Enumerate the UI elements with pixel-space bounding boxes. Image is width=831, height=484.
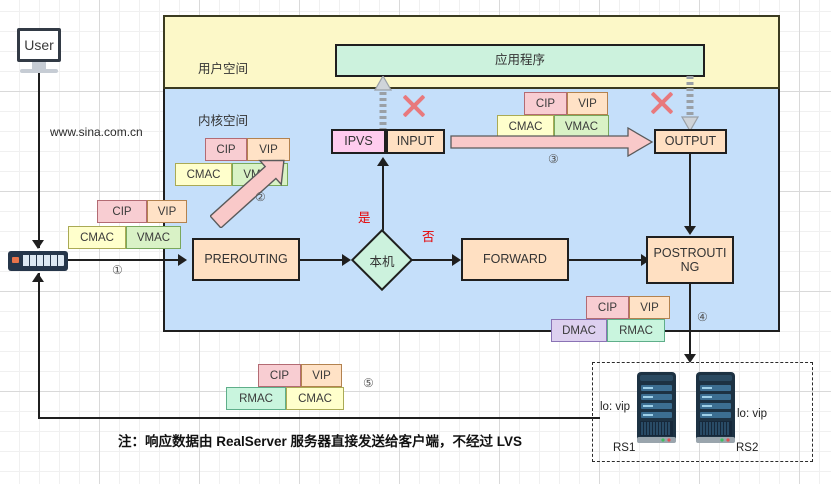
packet-1-ip-dst: VIP [147, 200, 187, 223]
packet-4-ip-src: CIP [586, 296, 629, 319]
client-to-switch-line [38, 73, 40, 248]
prerouting-box[interactable]: PREROUTING [192, 238, 300, 281]
decision-yes-label: 是 [358, 207, 371, 226]
step-1-marker: ① [112, 263, 123, 277]
client-to-switch-arrow [32, 240, 44, 249]
decision-to-input-arrow [377, 157, 389, 166]
prerouting-to-decision-arrow [342, 254, 351, 266]
packet-3-ip-dst: VIP [567, 92, 608, 115]
packet-5-ip-dst: VIP [301, 364, 342, 387]
packet-5-mac-dst: CMAC [286, 387, 344, 410]
step-5-marker: ⑤ [363, 376, 374, 390]
application-box[interactable]: 应用程序 [335, 44, 705, 77]
return-line-vertical [38, 273, 40, 418]
switch-to-prerouting-line [68, 259, 178, 261]
step-3-marker: ③ [548, 152, 559, 166]
step-4-marker: ④ [697, 310, 708, 324]
packet-5-mac-src: RMAC [226, 387, 286, 410]
packet-1-mac-src: CMAC [68, 226, 126, 249]
packet-5-ip-src: CIP [258, 364, 301, 387]
decision-label: 本机 [352, 230, 412, 290]
realserver-to-client-return-line [38, 417, 600, 419]
decision-to-forward-line [412, 259, 454, 261]
realserver-1-icon [636, 371, 677, 444]
local-host-decision[interactable]: 本机 [352, 230, 412, 290]
kernel-space-label: 内核空间 [198, 110, 248, 129]
input-to-app-blocked-x-icon [400, 92, 428, 120]
realserver-1-interface-label: lo: vip [600, 401, 630, 413]
output-box[interactable]: OUTPUT [654, 129, 727, 154]
url-label: www.sina.com.cn [50, 125, 143, 139]
forward-box[interactable]: FORWARD [461, 238, 569, 281]
app-to-output-blocked-x-icon [648, 89, 676, 117]
monitor-stand-icon [32, 62, 46, 69]
step-2-marker: ② [255, 190, 266, 204]
packet-4-mac-src: DMAC [551, 319, 607, 342]
switch-ports-icon [22, 255, 64, 266]
decision-to-forward-arrow [452, 254, 461, 266]
packet-1-ip-src: CIP [97, 200, 147, 223]
diagram-note: 注：响应数据由 RealServer 服务器直接发送给客户端，不经过 LVS [118, 430, 522, 450]
step-2-pink-arrow [210, 128, 320, 228]
packet-3-ip-src: CIP [524, 92, 567, 115]
output-to-postrouting-arrow [684, 226, 696, 235]
packet-4-ip-dst: VIP [629, 296, 670, 319]
app-to-output-dotted-arrow [681, 76, 699, 131]
ipvs-box[interactable]: IPVS [331, 129, 386, 154]
packet-1-mac-dst: VMAC [126, 226, 181, 249]
user-space-label: 用户空间 [198, 58, 248, 77]
return-to-client-arrow [32, 273, 44, 282]
input-box[interactable]: INPUT [386, 129, 445, 154]
realserver-2-icon [695, 371, 736, 444]
decision-no-label: 否 [422, 226, 435, 245]
input-to-app-dotted-arrow [374, 76, 392, 131]
postrouting-to-realserver-line [689, 284, 691, 360]
realserver-1-name-label: RS1 [613, 442, 635, 454]
prerouting-to-decision-line [300, 259, 344, 261]
postrouting-box[interactable]: POSTROUTI NG [646, 236, 734, 284]
switch-led-icon [12, 257, 19, 263]
forward-to-postrouting-line [569, 259, 644, 261]
client-label: User [17, 28, 61, 62]
realserver-2-interface-label: lo: vip [737, 408, 767, 420]
switch-to-prerouting-arrow [178, 254, 187, 266]
output-to-postrouting-line [689, 154, 691, 230]
packet-4-mac-dst: RMAC [607, 319, 665, 342]
realserver-2-name-label: RS2 [736, 442, 758, 454]
